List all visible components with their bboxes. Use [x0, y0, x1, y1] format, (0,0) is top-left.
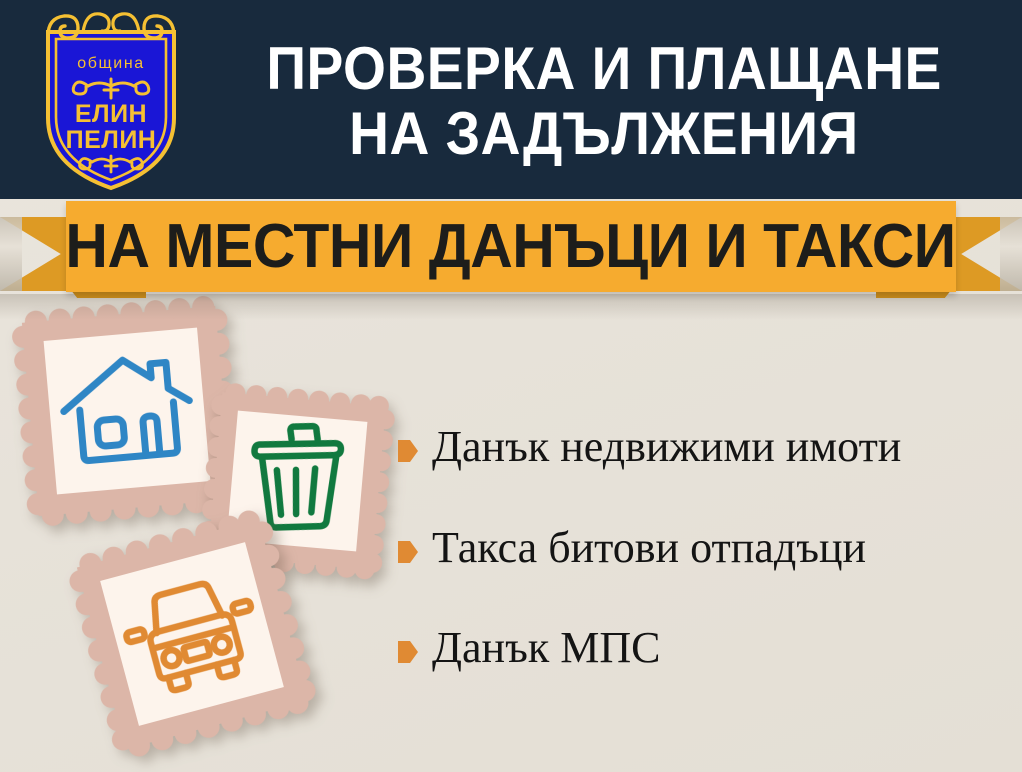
ribbon-fold-left [0, 217, 22, 291]
list-item[interactable]: Такса битови отпадъци [398, 525, 1018, 572]
list-item[interactable]: Данък МПС [398, 625, 1018, 672]
list-item[interactable]: Данък недвижими имоти [398, 424, 1018, 471]
crest-label-line1: ЕЛИН [75, 100, 147, 128]
crest-label-top: община [77, 55, 145, 72]
ribbon-banner: НА МЕСТНИ ДАНЪЦИ И ТАКСИ [66, 201, 956, 292]
list-item-label: Такса битови отпадъци [432, 525, 866, 572]
arrow-pentagon-bullet-icon [398, 641, 418, 663]
crest-label-line2: ПЕЛИН [66, 126, 157, 154]
municipality-crest: община ЕЛИН ПЕЛИН [26, 6, 196, 196]
list-item-label: Данък недвижими имоти [432, 424, 901, 471]
ribbon-fold-right [1000, 217, 1022, 291]
arrow-pentagon-bullet-icon [398, 440, 418, 462]
page-title: ПРОВЕРКА И ПЛАЩАНЕ НА ЗАДЪЛЖЕНИЯ [196, 14, 1012, 189]
poster-canvas: община ЕЛИН ПЕЛИН [0, 0, 1022, 772]
page-title-line-1: ПРОВЕРКА И ПЛАЩАНЕ [266, 37, 941, 102]
ribbon-label: НА МЕСТНИ ДАНЪЦИ И ТАКСИ [66, 211, 956, 282]
subtitle-ribbon: НА МЕСТНИ ДАНЪЦИ И ТАКСИ [0, 198, 1022, 302]
arrow-pentagon-bullet-icon [398, 541, 418, 563]
list-item-label: Данък МПС [432, 625, 660, 672]
tax-types-list: Данък недвижими имоти Такса битови отпад… [398, 424, 1018, 672]
page-title-line-2: НА ЗАДЪЛЖЕНИЯ [349, 102, 859, 167]
